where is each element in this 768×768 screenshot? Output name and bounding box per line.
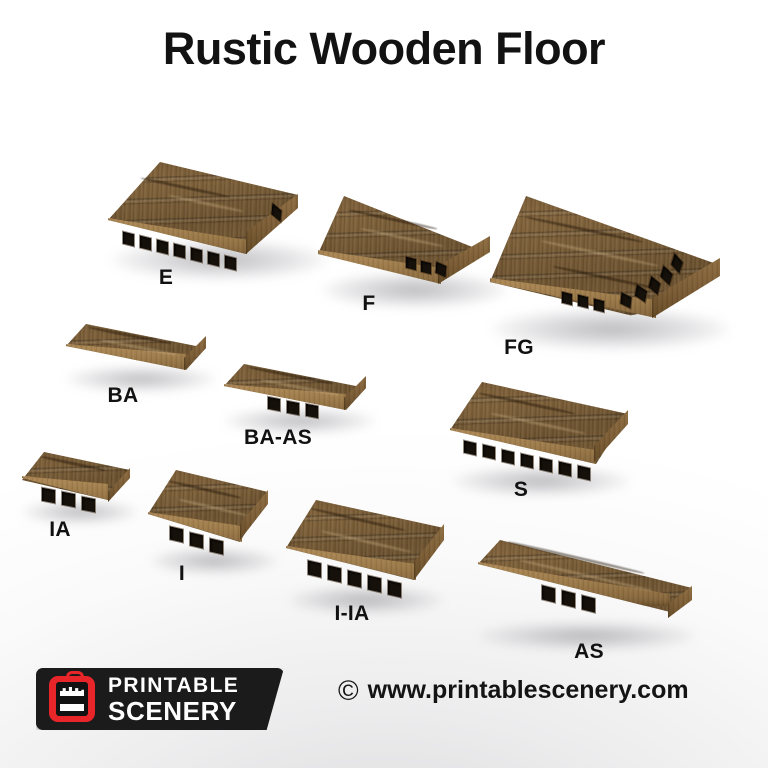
tag-inner-panel: [56, 682, 88, 716]
peg-hole: [287, 401, 299, 415]
drop-shadow: [452, 466, 630, 496]
logo-line-2: SCENERY: [108, 698, 239, 724]
peg-hole: [123, 232, 134, 247]
page-title: Rustic Wooden Floor: [0, 24, 768, 74]
peg-hole: [521, 454, 533, 469]
peg-hole: [502, 450, 514, 465]
peg-hole: [140, 236, 151, 251]
peg-hole: [306, 404, 318, 418]
peg-hole: [578, 295, 588, 308]
brand-logo[interactable]: PRINTABLE SCENERY: [36, 668, 284, 730]
peg-hole: [42, 488, 55, 504]
battlement-shape-icon: [60, 687, 84, 696]
piece-label-BA: BA: [108, 384, 139, 408]
piece-label-S: S: [514, 478, 528, 502]
peg-hole: [308, 560, 321, 577]
base-bar: [60, 704, 84, 711]
peg-hole: [594, 299, 604, 312]
peg-hole: [562, 292, 572, 305]
logo-wordmark: PRINTABLE SCENERY: [108, 674, 239, 724]
piece-label-IA: IA: [49, 518, 71, 542]
peg-hole: [62, 492, 75, 508]
drop-shadow: [66, 366, 216, 392]
peg-hole: [210, 538, 223, 554]
peg-hole: [421, 261, 431, 274]
piece-label-I-IA: I-IA: [334, 602, 369, 626]
peg-hole: [464, 441, 476, 456]
peg-hole: [82, 497, 95, 513]
peg-hole: [190, 532, 203, 548]
peg-hole: [170, 526, 183, 542]
copyright-line: © www.printablescenery.com: [338, 676, 689, 705]
peg-hole: [174, 244, 185, 259]
peg-hole: [582, 595, 595, 612]
peg-hole: [540, 458, 552, 473]
piece-label-FG: FG: [504, 336, 534, 360]
logo-line-1: PRINTABLE: [108, 674, 239, 698]
website-url[interactable]: www.printablescenery.com: [368, 676, 689, 705]
peg-hole: [388, 580, 401, 597]
peg-hole: [483, 445, 495, 460]
peg-hole: [406, 257, 416, 270]
peg-hole: [559, 462, 571, 477]
peg-hole: [328, 565, 341, 582]
piece-label-AS: AS: [574, 640, 604, 664]
piece-label-BA-AS: BA-AS: [244, 426, 312, 450]
peg-hole: [348, 570, 361, 587]
peg-hole: [191, 248, 202, 263]
piece-label-I: I: [179, 562, 185, 586]
peg-hole: [562, 590, 575, 607]
peg-hole: [225, 256, 236, 271]
drop-shadow: [22, 500, 138, 524]
piece-label-E: E: [159, 266, 173, 290]
peg-hole: [542, 585, 555, 602]
product-sheet: Rustic Wooden Floor E F: [0, 0, 768, 768]
copyright-icon: ©: [338, 677, 359, 705]
peg-hole: [268, 397, 280, 411]
peg-hole: [578, 466, 590, 481]
peg-hole: [208, 252, 219, 267]
castle-battlement-tag-icon: [49, 676, 95, 722]
piece-label-F: F: [362, 292, 375, 316]
peg-hole: [157, 240, 168, 255]
peg-hole: [368, 575, 381, 592]
